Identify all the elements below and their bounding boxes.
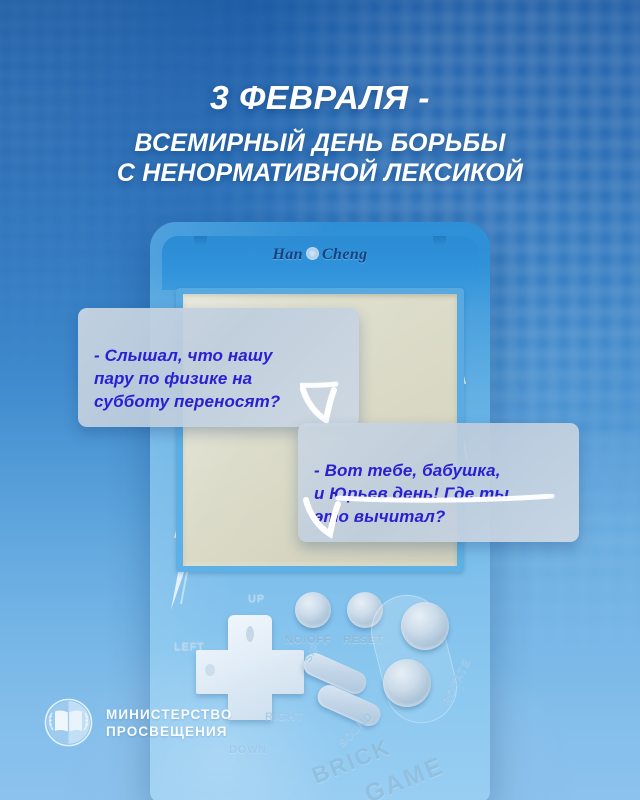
dpad-label-left: LEFT bbox=[174, 641, 205, 653]
ministry-line-1: МИНИСТЕРСТВО bbox=[106, 707, 233, 722]
rotate-button-upper[interactable] bbox=[401, 602, 449, 650]
ministry-line-2: ПРОСВЕЩЕНИЯ bbox=[106, 724, 228, 739]
ministry-logo: МИНИСТЕРСТВОПРОСВЕЩЕНИЯ bbox=[44, 698, 233, 747]
title-line-2: ВСЕМИРНЫЙ ДЕНЬ БОРЬБЫ bbox=[0, 128, 640, 158]
dpad-label-right: RIGHT bbox=[265, 711, 303, 723]
brand-text-cheng: Cheng bbox=[322, 246, 368, 263]
speech-bubble-left-text: - Слышал, что нашу пару по физике на суб… bbox=[94, 346, 280, 411]
power-button-label: NO/OFF bbox=[285, 634, 331, 646]
brand-text-han: Han bbox=[272, 246, 303, 263]
title-line-1: 3 ФЕВРАЛЯ - bbox=[0, 78, 640, 118]
console-controls: UP LEFT RIGHT DOWN NO/OFF RESET S/P SOUN… bbox=[150, 580, 490, 800]
book-wheat-emblem-icon bbox=[44, 698, 93, 747]
power-button[interactable] bbox=[295, 592, 331, 628]
speech-bubble-right-tail bbox=[300, 494, 560, 542]
poster-canvas: 3 ФЕВРАЛЯ - ВСЕМИРНЫЙ ДЕНЬ БОРЬБЫ С НЕНО… bbox=[0, 0, 640, 800]
dpad-label-down: DOWN bbox=[229, 744, 267, 756]
speech-bubble-left-tail bbox=[300, 380, 364, 426]
dpad-label-up: UP bbox=[248, 593, 265, 605]
poster-title: 3 ФЕВРАЛЯ - ВСЕМИРНЫЙ ДЕНЬ БОРЬБЫ С НЕНО… bbox=[0, 78, 640, 188]
gear-icon bbox=[306, 247, 319, 260]
console-brand: HanCheng bbox=[150, 246, 490, 264]
title-line-3: С НЕНОРМАТИВНОЙ ЛЕКСИКОЙ bbox=[0, 158, 640, 188]
rotate-button-lower[interactable] bbox=[383, 659, 431, 707]
ministry-name: МИНИСТЕРСТВОПРОСВЕЩЕНИЯ bbox=[106, 706, 233, 740]
